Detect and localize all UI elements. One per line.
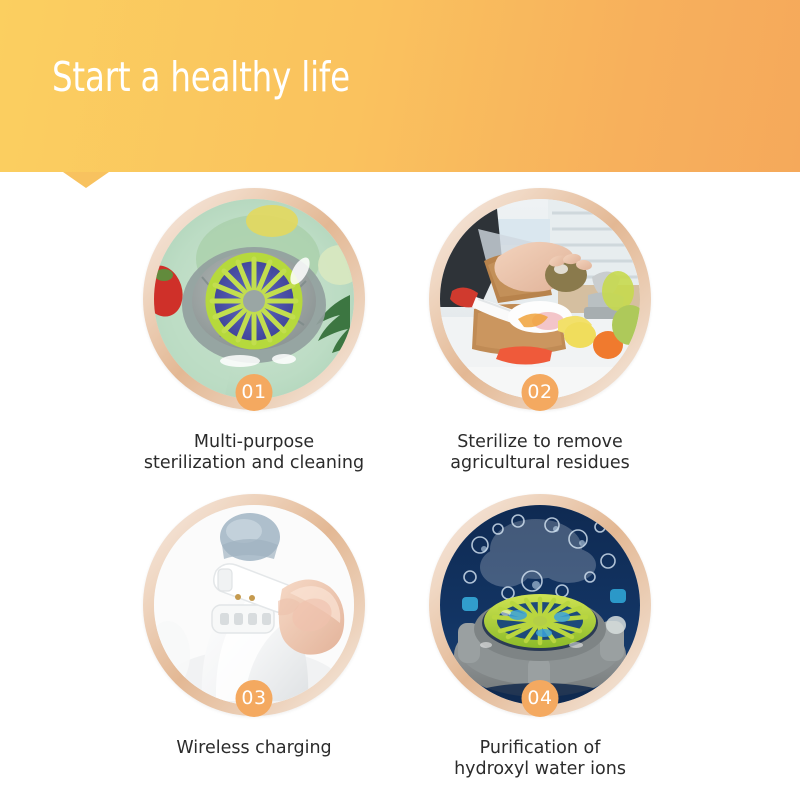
feature-badge-01: 01 [236,374,273,411]
infographic-page: Start a healthy life [0,0,800,800]
caption-line-2: sterilization and cleaning [89,453,419,474]
feature-card-03[interactable]: 03 Wireless charging [89,494,419,759]
feature-badge-03: 03 [236,680,273,717]
caption-line-2: hydroxyl water ions [375,759,705,780]
caption-line-1: Wireless charging [89,738,419,759]
feature-card-04[interactable]: 04 Purification of hydroxyl water ions [375,494,705,781]
banner-notch-triangle [63,172,109,188]
caption-line-2: agricultural residues [375,453,705,474]
caption-line-1: Sterilize to remove [375,432,705,453]
photo-kitchen-hands-preparing-fruit [440,199,640,399]
feature-caption-02: Sterilize to remove agricultural residue… [375,432,705,475]
header-banner: Start a healthy life [0,0,800,172]
caption-line-1: Multi-purpose [89,432,419,453]
feature-card-02[interactable]: 02 Sterilize to remove agricultural resi… [375,188,705,475]
feature-badge-04: 04 [522,680,559,717]
caption-line-1: Purification of [375,738,705,759]
photo-sterilizer-in-basin-with-produce [154,199,354,399]
feature-card-01[interactable]: 01 Multi-purpose sterilization and clean… [89,188,419,475]
page-title: Start a healthy life [52,56,350,99]
photo-device-underwater-with-bubbles [440,505,640,705]
feature-caption-04: Purification of hydroxyl water ions [375,738,705,781]
feature-caption-01: Multi-purpose sterilization and cleaning [89,432,419,475]
feature-circle-01: 01 [143,188,365,410]
feature-caption-03: Wireless charging [89,738,419,759]
feature-grid: 01 Multi-purpose sterilization and clean… [0,188,800,800]
feature-circle-02: 02 [429,188,651,410]
photo-hand-attaching-magnetic-charger [154,505,354,705]
feature-circle-03: 03 [143,494,365,716]
feature-badge-02: 02 [522,374,559,411]
feature-circle-04: 04 [429,494,651,716]
